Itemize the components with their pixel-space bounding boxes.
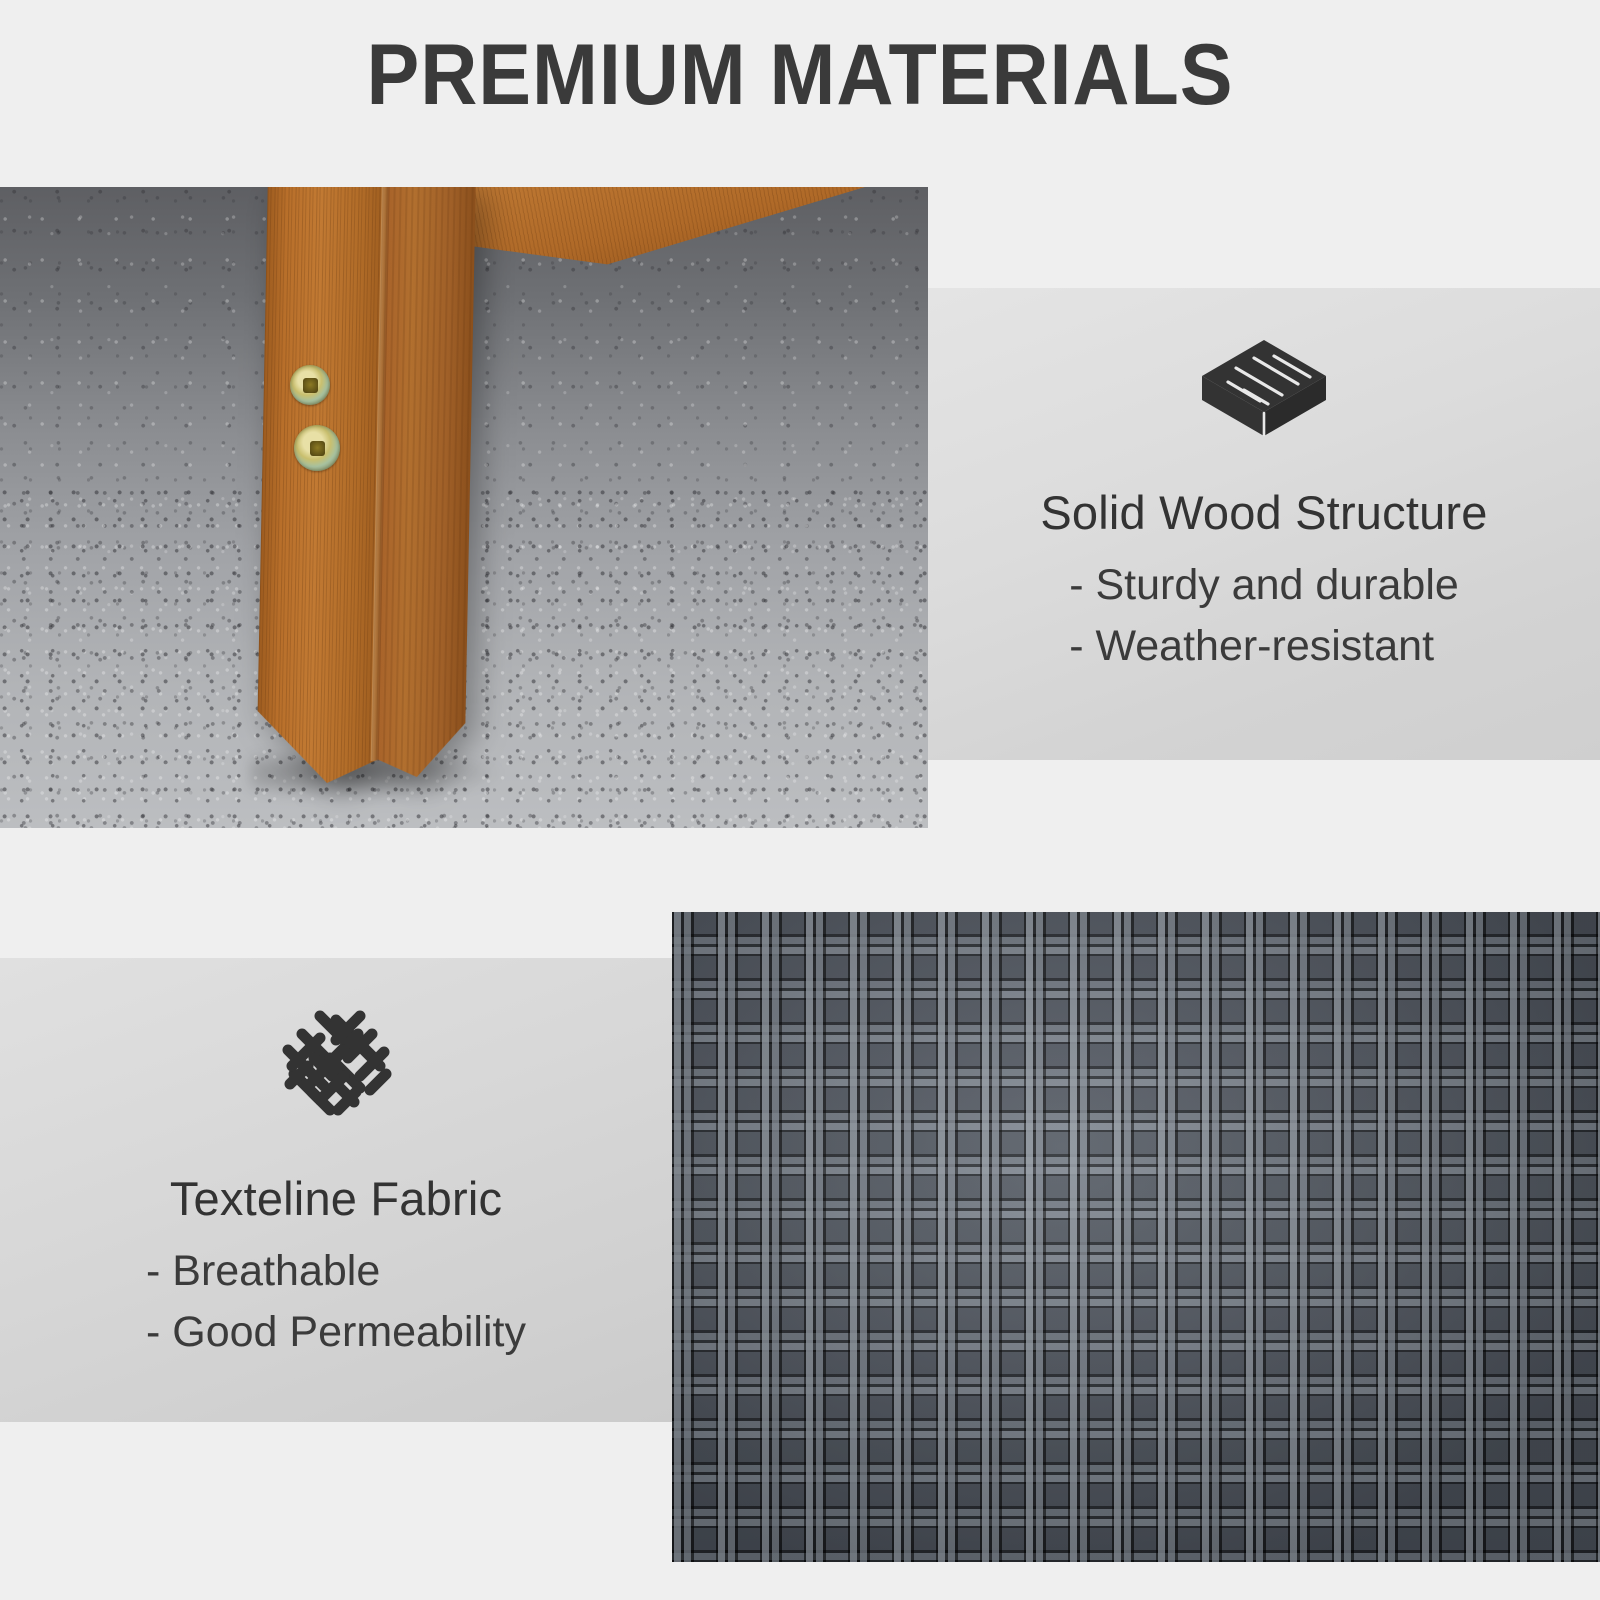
wood-plank-icon — [928, 334, 1600, 447]
woven-fabric-icon — [0, 1004, 672, 1133]
screw-icon — [294, 425, 340, 471]
feature-bullets-solid-wood: - Sturdy and durable - Weather-resistant — [1069, 555, 1459, 677]
wood-leg-photo — [0, 187, 928, 828]
feature-card-solid-wood: Solid Wood Structure - Sturdy and durabl… — [928, 288, 1600, 760]
screw-icon — [290, 365, 330, 405]
feature-card-texteline-fabric: Texteline Fabric - Breathable - Good Per… — [0, 958, 672, 1422]
feature-bullet: - Sturdy and durable — [1069, 555, 1459, 616]
fabric-texture-photo — [672, 912, 1600, 1562]
premium-materials-infographic: PREMIUM MATERIALS — [0, 0, 1600, 1600]
fabric-lighting-overlay — [672, 912, 1600, 1562]
leg-face-front — [256, 187, 390, 783]
feature-title-solid-wood: Solid Wood Structure — [928, 487, 1600, 539]
title-band: PREMIUM MATERIALS — [0, 0, 1600, 187]
feature-title-texteline-fabric: Texteline Fabric — [0, 1173, 672, 1225]
feature-bullet: - Good Permeability — [146, 1302, 526, 1363]
wood-leg — [256, 187, 474, 783]
feature-bullet: - Weather-resistant — [1069, 616, 1459, 677]
feature-bullets-texteline-fabric: - Breathable - Good Permeability — [146, 1241, 526, 1363]
page-title: PREMIUM MATERIALS — [64, 30, 1536, 120]
feature-bullet: - Breathable — [146, 1241, 526, 1302]
leg-face-side — [376, 187, 476, 783]
